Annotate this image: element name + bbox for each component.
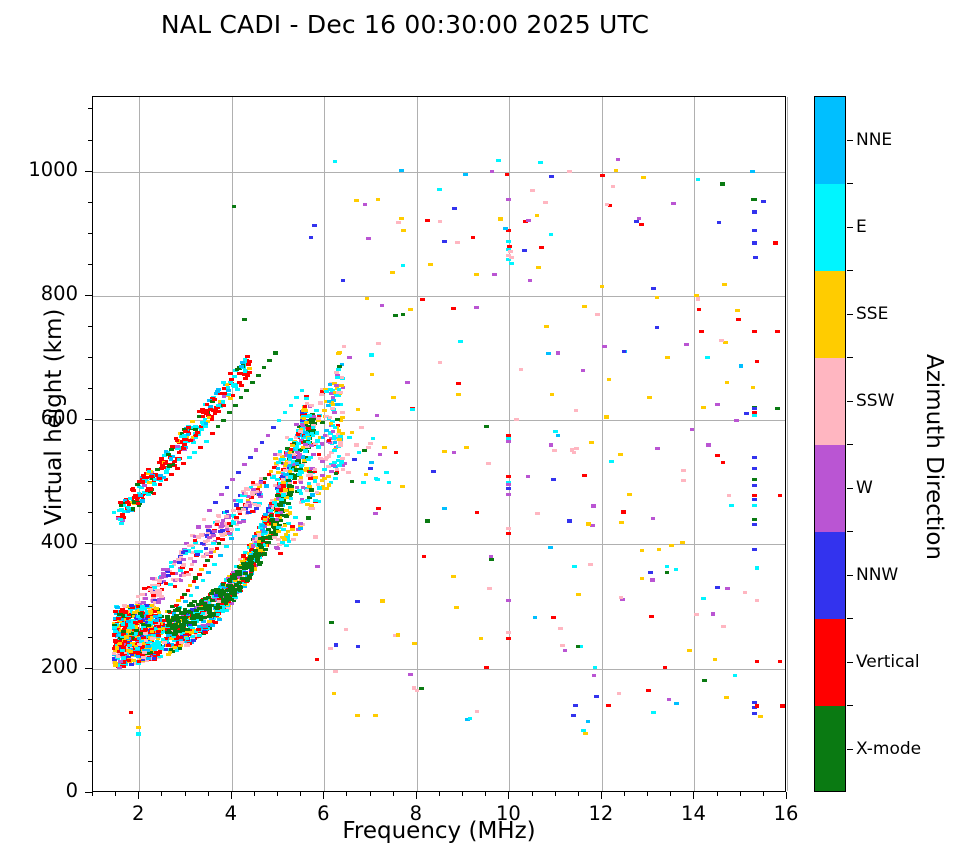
data-point-ssw	[142, 651, 147, 654]
data-point-e	[153, 647, 158, 650]
data-point-e	[185, 637, 190, 640]
data-point-w	[221, 519, 226, 522]
data-point-vertical	[222, 404, 227, 407]
data-point-nnw	[452, 207, 457, 210]
data-point-x-mode	[775, 407, 780, 410]
data-point-x-mode	[173, 623, 178, 626]
data-point-ssw	[508, 250, 513, 253]
data-point-vertical	[146, 487, 151, 490]
data-point-ssw	[256, 504, 261, 507]
data-point-e	[193, 425, 198, 428]
data-point-e	[332, 449, 337, 452]
data-point-ssw	[186, 573, 191, 576]
data-point-x-mode	[193, 576, 198, 579]
data-point-e	[278, 450, 283, 453]
y-axis-minor-tick	[88, 202, 92, 203]
data-point-x-mode	[239, 396, 244, 399]
y-axis-minor-tick	[88, 575, 92, 576]
data-point-nne	[264, 484, 269, 487]
data-point-x-mode	[309, 488, 314, 491]
data-point-vertical	[118, 501, 123, 504]
data-point-vertical	[237, 381, 242, 384]
colorbar-tick	[847, 749, 853, 750]
data-point-vertical	[216, 410, 221, 413]
data-point-sse	[657, 548, 662, 551]
data-point-e	[317, 486, 322, 489]
data-point-w	[363, 203, 368, 206]
data-point-e	[165, 471, 170, 474]
data-point-nnw	[761, 200, 766, 203]
y-axis-minor-tick	[88, 761, 92, 762]
data-point-sse	[289, 488, 294, 491]
x-axis-tick	[231, 792, 232, 799]
data-point-x-mode	[247, 575, 252, 578]
data-point-sse	[304, 421, 309, 424]
data-point-vertical	[175, 439, 180, 442]
y-axis-minor-tick	[88, 699, 92, 700]
data-point-vertical	[507, 245, 512, 248]
data-point-w	[209, 551, 214, 554]
colorbar-title: Azimuth Direction	[921, 307, 947, 607]
data-point-ssw	[241, 508, 246, 511]
data-point-sse	[370, 373, 375, 376]
data-point-vertical	[506, 475, 511, 478]
data-point-nne	[146, 657, 151, 660]
data-point-sse	[304, 467, 309, 470]
data-point-e	[275, 478, 280, 481]
colorbar-tick	[847, 401, 853, 402]
data-point-w	[179, 579, 184, 582]
data-point-nne	[137, 637, 142, 640]
data-point-ssw	[229, 528, 234, 531]
data-point-nnw	[549, 175, 554, 178]
data-point-nne	[218, 554, 223, 557]
data-point-nnw	[341, 279, 346, 282]
data-point-e	[729, 504, 734, 507]
data-point-nnw	[218, 530, 223, 533]
data-point-nne	[229, 537, 234, 540]
data-point-x-mode	[221, 583, 226, 586]
data-point-ssw	[157, 589, 162, 592]
data-point-w	[506, 493, 511, 496]
data-point-e	[468, 717, 473, 720]
data-point-ssw	[346, 471, 351, 474]
data-point-w	[266, 434, 271, 437]
data-point-x-mode	[192, 622, 197, 625]
data-point-sse	[576, 593, 581, 596]
data-point-ssw	[574, 447, 579, 450]
data-point-w	[331, 430, 336, 433]
data-point-nnw	[191, 639, 196, 642]
data-point-vertical	[177, 451, 182, 454]
data-point-ssw	[188, 557, 193, 560]
data-point-nnw	[312, 224, 317, 227]
data-point-e	[314, 409, 319, 412]
data-point-e	[276, 526, 281, 529]
data-point-ssw	[611, 185, 616, 188]
data-point-e	[538, 161, 543, 164]
data-point-vertical	[308, 477, 313, 480]
data-point-sse	[168, 651, 173, 654]
data-point-e	[279, 458, 284, 461]
data-point-sse	[380, 599, 385, 602]
y-axis-minor-tick	[88, 326, 92, 327]
data-point-ssw	[535, 512, 540, 515]
data-point-ssw	[681, 469, 686, 472]
data-point-nnw	[254, 507, 259, 510]
data-point-w	[275, 547, 280, 550]
data-point-vertical	[198, 446, 203, 449]
data-point-nne	[287, 454, 292, 457]
data-point-x-mode	[362, 449, 367, 452]
data-point-w	[671, 202, 676, 205]
x-axis-tick-label: 12	[571, 802, 631, 825]
data-point-vertical	[317, 453, 322, 456]
data-point-vertical	[113, 639, 118, 642]
data-point-w	[616, 158, 621, 161]
data-point-ssw	[721, 625, 726, 628]
data-point-vertical	[736, 318, 741, 321]
data-point-nnw	[522, 249, 527, 252]
data-point-ssw	[148, 588, 153, 591]
data-point-e	[289, 497, 294, 500]
data-point-x-mode	[350, 480, 355, 483]
data-point-e	[276, 461, 281, 464]
data-point-e	[306, 458, 311, 461]
data-point-sse	[284, 462, 289, 465]
data-point-x-mode	[166, 624, 171, 627]
data-point-vertical	[157, 461, 162, 464]
data-point-nne	[260, 524, 265, 527]
data-point-e	[189, 594, 194, 597]
gridline-vertical	[787, 97, 788, 791]
data-point-ssw	[755, 599, 760, 602]
data-point-vertical	[775, 330, 780, 333]
data-point-ssw	[112, 652, 117, 655]
data-point-vertical	[193, 539, 198, 542]
data-point-ssw	[617, 692, 622, 695]
data-point-nne	[217, 618, 222, 621]
data-point-sse	[337, 438, 342, 441]
data-point-sse	[284, 496, 289, 499]
data-point-x-mode	[190, 604, 195, 607]
data-point-x-mode	[209, 592, 214, 595]
data-point-e	[284, 544, 289, 547]
data-point-vertical	[780, 704, 785, 707]
data-point-vertical	[755, 704, 760, 707]
data-point-e	[122, 510, 127, 513]
data-point-w	[251, 488, 256, 491]
data-point-x-mode	[393, 314, 398, 317]
data-point-vertical	[121, 646, 126, 649]
data-point-vertical	[376, 507, 381, 510]
colorbar-tick	[847, 575, 853, 576]
data-point-sse	[640, 577, 645, 580]
data-point-ssw	[338, 443, 343, 446]
data-point-x-mode	[199, 600, 204, 603]
data-point-e	[313, 499, 318, 502]
data-point-e	[272, 475, 277, 478]
data-point-sse	[290, 528, 295, 531]
data-point-vertical	[237, 372, 242, 375]
data-point-w	[297, 453, 302, 456]
data-point-sse	[124, 635, 129, 638]
data-point-vertical	[721, 461, 726, 464]
data-point-x-mode	[191, 614, 196, 617]
data-point-vertical	[180, 596, 185, 599]
data-point-nnw	[152, 657, 157, 660]
data-point-vertical	[773, 241, 778, 244]
data-point-nnw	[715, 586, 720, 589]
data-point-sse	[350, 431, 355, 434]
data-point-e	[332, 461, 337, 464]
data-point-vertical	[278, 552, 283, 555]
data-point-ssw	[359, 426, 364, 429]
y-axis-minor-tick	[88, 481, 92, 482]
data-point-x-mode	[233, 404, 238, 407]
data-point-vertical	[606, 704, 611, 707]
data-point-e	[157, 646, 162, 649]
data-point-ssw	[244, 492, 249, 495]
data-point-ssw	[175, 578, 180, 581]
data-point-ssw	[144, 639, 149, 642]
data-point-vertical	[129, 711, 134, 714]
y-axis-tick-label: 200	[8, 655, 78, 678]
data-point-w	[506, 599, 511, 602]
y-axis-minor-tick	[88, 606, 92, 607]
data-point-nne	[183, 600, 188, 603]
data-point-ssw	[727, 494, 732, 497]
data-point-x-mode	[192, 600, 197, 603]
data-point-w	[212, 530, 217, 533]
data-point-sse	[128, 650, 133, 653]
data-point-x-mode	[752, 198, 757, 201]
data-point-e	[136, 615, 141, 618]
data-point-nne	[369, 461, 374, 464]
data-point-sse	[288, 470, 293, 473]
data-point-nnw	[752, 467, 757, 470]
data-point-vertical	[181, 462, 186, 465]
data-point-e	[187, 456, 192, 459]
data-point-x-mode	[173, 628, 178, 631]
data-point-w	[602, 345, 607, 348]
data-point-e	[357, 451, 362, 454]
data-point-vertical	[164, 582, 169, 585]
data-point-e	[553, 430, 558, 433]
data-point-nnw	[181, 551, 186, 554]
data-point-vertical	[778, 660, 783, 663]
data-point-e	[280, 541, 285, 544]
data-point-x-mode	[335, 418, 340, 421]
data-point-x-mode	[117, 613, 122, 616]
data-point-w	[150, 577, 155, 580]
data-point-x-mode	[208, 614, 213, 617]
data-point-w	[315, 565, 320, 568]
y-axis-minor-tick	[88, 357, 92, 358]
data-point-x-mode	[185, 628, 190, 631]
data-point-nne	[586, 720, 591, 723]
data-point-w	[248, 504, 253, 507]
y-axis-minor-tick	[88, 512, 92, 513]
data-point-w	[227, 532, 232, 535]
data-point-ssw	[291, 453, 296, 456]
data-point-sse	[474, 273, 479, 276]
data-point-x-mode	[146, 624, 151, 627]
data-point-e	[146, 493, 151, 496]
data-point-w	[230, 478, 235, 481]
data-point-w	[219, 525, 224, 528]
colorbar-tick	[847, 488, 853, 489]
x-axis-tick-label: 16	[756, 802, 816, 825]
data-point-x-mode	[172, 633, 177, 636]
data-point-ssw	[199, 533, 204, 536]
data-point-vertical	[142, 476, 147, 479]
data-point-nnw	[309, 236, 314, 239]
data-point-x-mode	[266, 541, 271, 544]
data-point-w	[192, 560, 197, 563]
data-point-nnw	[752, 456, 757, 459]
y-axis-tick	[85, 419, 92, 420]
data-point-e	[333, 477, 338, 480]
x-axis-minor-tick	[161, 792, 162, 796]
data-point-x-mode	[401, 313, 406, 316]
data-point-nnw	[551, 478, 556, 481]
data-point-nnw	[567, 519, 572, 522]
data-point-w	[259, 481, 264, 484]
data-point-sse	[701, 406, 706, 409]
data-point-ssw	[509, 256, 514, 259]
data-point-e	[119, 522, 124, 525]
data-point-e	[112, 511, 117, 514]
data-point-ssw	[250, 493, 255, 496]
data-point-sse	[640, 549, 645, 552]
x-axis-minor-tick	[370, 792, 371, 796]
data-point-nnw	[506, 487, 511, 490]
data-point-ssw	[438, 220, 443, 223]
data-point-x-mode	[185, 621, 190, 624]
x-axis-minor-tick	[717, 792, 718, 796]
data-point-vertical	[290, 525, 295, 528]
data-point-nne	[195, 586, 200, 589]
data-point-w	[591, 504, 596, 507]
data-point-x-mode	[245, 566, 250, 569]
data-point-w	[273, 453, 278, 456]
data-point-nnw	[752, 498, 757, 501]
colorbar-boundary-tick	[847, 183, 853, 184]
colorbar-segment-e	[815, 184, 845, 271]
data-point-x-mode	[284, 514, 289, 517]
data-point-x-mode	[286, 479, 291, 482]
data-point-ssw	[588, 563, 593, 566]
data-point-x-mode	[235, 583, 240, 586]
data-point-x-mode	[263, 553, 268, 556]
data-point-w	[323, 434, 328, 437]
data-point-x-mode	[167, 610, 172, 613]
data-point-vertical	[186, 426, 191, 429]
data-point-ssw	[574, 409, 579, 412]
data-point-vertical	[156, 630, 161, 633]
x-axis-minor-tick	[208, 792, 209, 796]
data-point-sse	[150, 604, 155, 607]
data-point-vertical	[275, 508, 280, 511]
data-point-w	[196, 525, 201, 528]
data-point-vertical	[222, 392, 227, 395]
data-point-ssw	[315, 491, 320, 494]
data-point-nnw	[753, 256, 758, 259]
data-point-e	[212, 563, 217, 566]
data-point-e	[289, 404, 294, 407]
data-point-e	[300, 389, 305, 392]
x-axis-tick	[601, 792, 602, 799]
data-point-w	[711, 612, 716, 615]
data-point-ssw	[185, 643, 190, 646]
data-point-ssw	[203, 540, 208, 543]
data-point-vertical	[194, 434, 199, 437]
data-point-e	[609, 460, 614, 463]
y-axis-tick-label: 600	[8, 406, 78, 429]
data-point-ssw	[368, 442, 373, 445]
data-point-ssw	[486, 462, 491, 465]
data-point-ssw	[318, 457, 323, 460]
data-point-vertical	[157, 477, 162, 480]
data-point-nne	[153, 615, 158, 618]
data-point-e	[288, 475, 293, 478]
colorbar-segment-x-mode	[815, 706, 845, 792]
data-point-nne	[154, 619, 159, 622]
data-point-vertical	[137, 660, 142, 663]
data-point-e	[118, 518, 123, 521]
x-axis-minor-tick	[763, 792, 764, 796]
data-point-sse	[604, 415, 609, 418]
data-point-x-mode	[286, 502, 291, 505]
data-point-e	[549, 233, 554, 236]
data-point-x-mode	[665, 571, 670, 574]
data-point-x-mode	[247, 558, 252, 561]
data-point-vertical	[205, 403, 210, 406]
data-point-sse	[456, 393, 461, 396]
data-point-x-mode	[229, 592, 234, 595]
data-point-e	[305, 499, 310, 502]
data-point-vertical	[234, 516, 239, 519]
data-point-w	[219, 493, 224, 496]
data-point-e	[336, 459, 341, 462]
data-point-x-mode	[218, 606, 223, 609]
data-point-nne	[674, 702, 679, 705]
data-point-sse	[723, 341, 728, 344]
data-point-x-mode	[165, 631, 170, 634]
data-point-nne	[240, 361, 245, 364]
data-point-ssw	[336, 391, 341, 394]
data-point-sse	[337, 429, 342, 432]
data-point-x-mode	[131, 507, 136, 510]
data-point-ssw	[696, 297, 701, 300]
data-point-nnw	[334, 643, 339, 646]
data-point-nnw	[257, 493, 262, 496]
data-point-x-mode	[752, 478, 757, 481]
data-point-sse	[364, 473, 369, 476]
data-point-ssw	[595, 313, 600, 316]
data-point-vertical	[484, 666, 489, 669]
data-point-sse	[725, 381, 730, 384]
data-point-x-mode	[181, 611, 186, 614]
data-point-e	[112, 626, 117, 629]
y-axis-minor-tick	[88, 264, 92, 265]
x-axis-tick-label: 6	[293, 802, 353, 825]
data-point-w	[380, 304, 385, 307]
x-axis-minor-tick	[555, 792, 556, 796]
data-point-nnw	[129, 604, 134, 607]
data-point-vertical	[189, 568, 194, 571]
